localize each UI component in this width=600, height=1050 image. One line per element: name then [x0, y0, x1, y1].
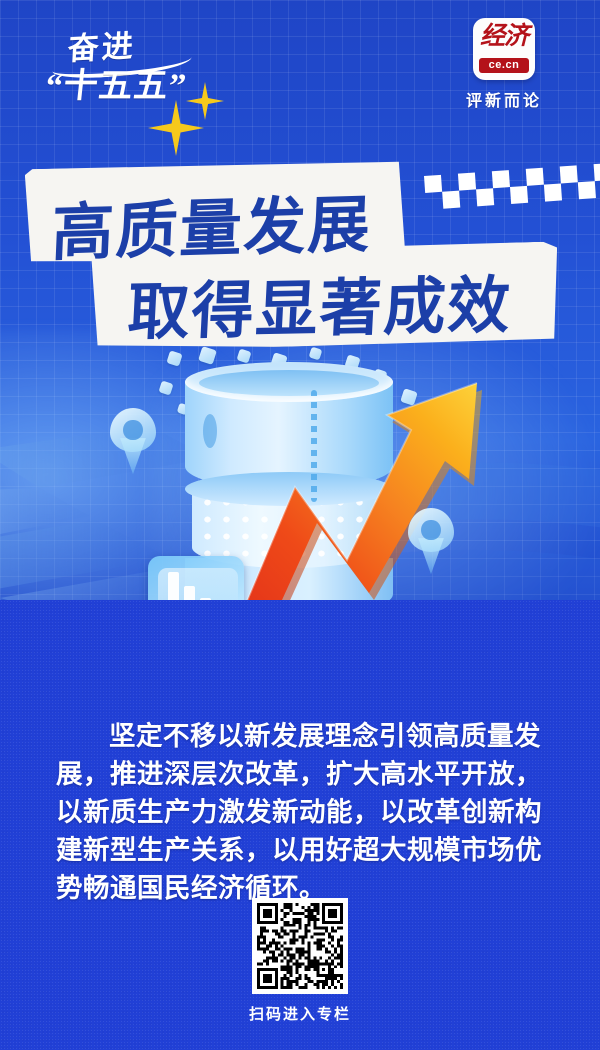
qr-caption: 扫码进入专栏 [0, 1003, 600, 1024]
logo-domain-text: ce.cn [479, 58, 529, 73]
qr-code[interactable] [252, 898, 348, 994]
campaign-line-2: “十五五” [43, 58, 189, 107]
logo-subtitle: 评新而论 [456, 87, 552, 111]
qr-section[interactable]: 扫码进入专栏 [0, 898, 600, 1024]
qr-code-canvas [257, 903, 343, 989]
campaign-brand: 奋进 “十五五” [46, 22, 246, 104]
poster-root: 奋进 “十五五” 经济 ce.cn 评新而论 高质量发展 取得显著成效 [0, 0, 600, 1050]
location-pin-right-icon [408, 508, 454, 566]
logo-mark-text: 经济 [473, 22, 535, 52]
site-logo[interactable]: 经济 ce.cn 评新而论 [456, 18, 552, 111]
body-paragraph: 坚定不移以新发展理念引领高质量发展，推进深层次改革，扩大高水平开放，以新质生产力… [56, 717, 548, 907]
logo-badge: 经济 ce.cn [473, 18, 535, 80]
location-pin-left-icon [110, 408, 156, 466]
